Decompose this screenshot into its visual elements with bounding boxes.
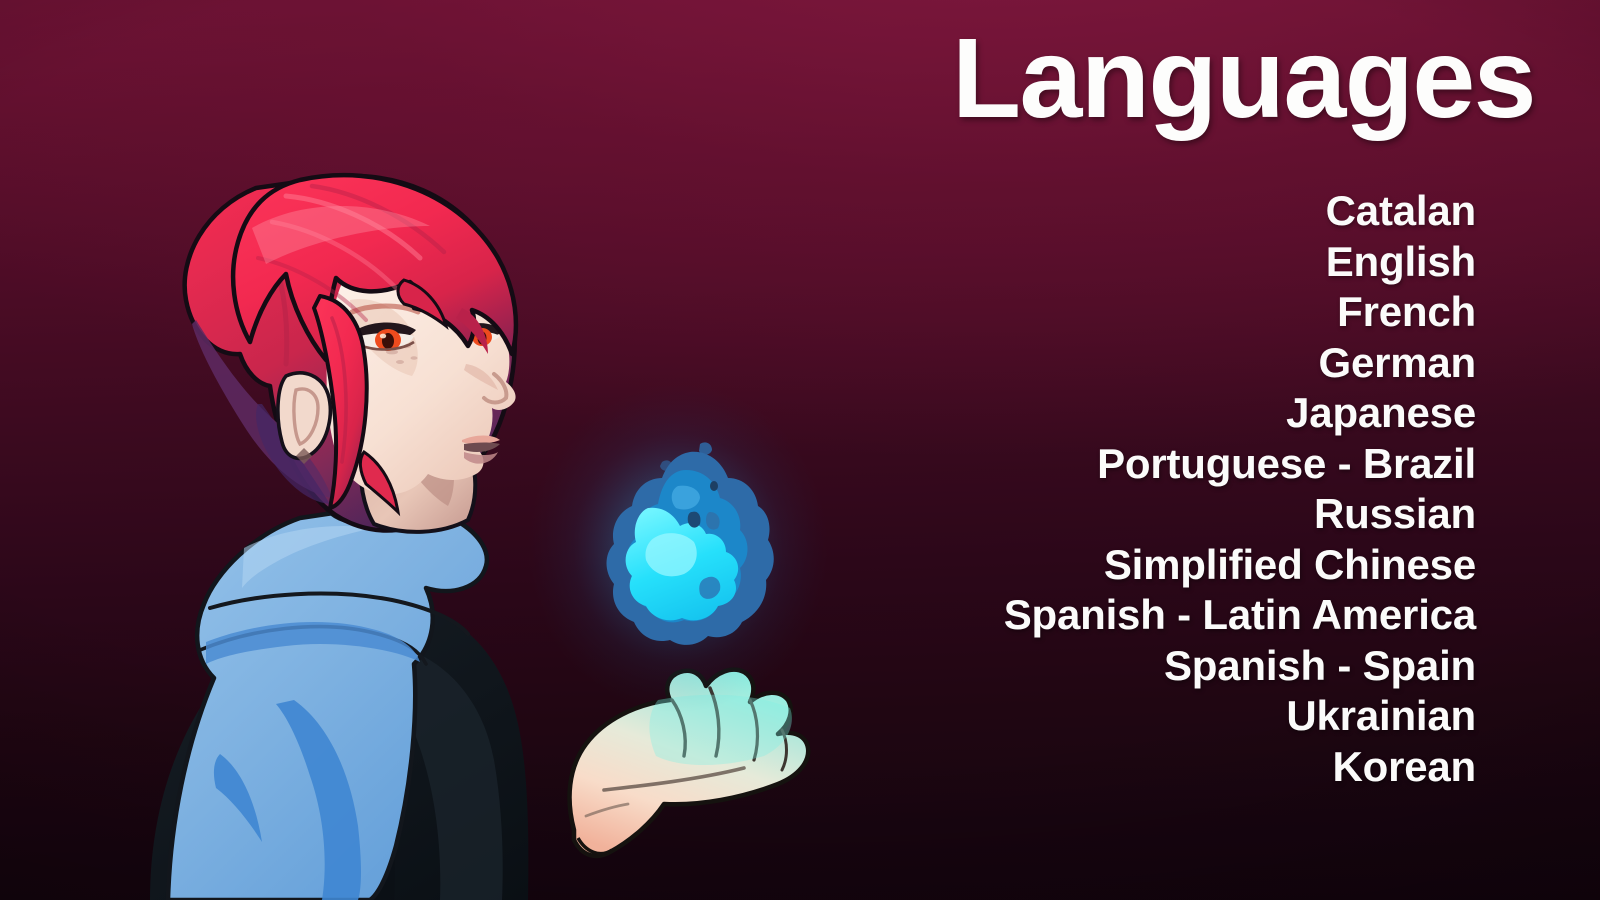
list-item: Korean bbox=[916, 742, 1476, 793]
blue-flame-orb bbox=[528, 383, 828, 713]
language-list: Catalan English French German Japanese P… bbox=[916, 186, 1476, 792]
character-illustration bbox=[0, 0, 900, 900]
languages-splash-screen: Languages Catalan English French German … bbox=[0, 0, 1600, 900]
flame-gap-2 bbox=[710, 481, 718, 491]
text-panel: Languages Catalan English French German … bbox=[900, 0, 1600, 900]
list-item: German bbox=[916, 338, 1476, 389]
character-artwork-svg bbox=[0, 0, 900, 900]
list-item: Ukrainian bbox=[916, 691, 1476, 742]
list-item: Japanese bbox=[916, 388, 1476, 439]
list-item: Spanish - Spain bbox=[916, 641, 1476, 692]
list-item: Russian bbox=[916, 489, 1476, 540]
list-item: Simplified Chinese bbox=[916, 540, 1476, 591]
list-item: Catalan bbox=[916, 186, 1476, 237]
mouth-opening bbox=[464, 443, 500, 453]
list-item: English bbox=[916, 237, 1476, 288]
list-item: French bbox=[916, 287, 1476, 338]
list-item: Spanish - Latin America bbox=[916, 590, 1476, 641]
page-title: Languages bbox=[952, 22, 1535, 135]
eye-near-glint bbox=[380, 334, 386, 339]
list-item: Portuguese - Brazil bbox=[916, 439, 1476, 490]
